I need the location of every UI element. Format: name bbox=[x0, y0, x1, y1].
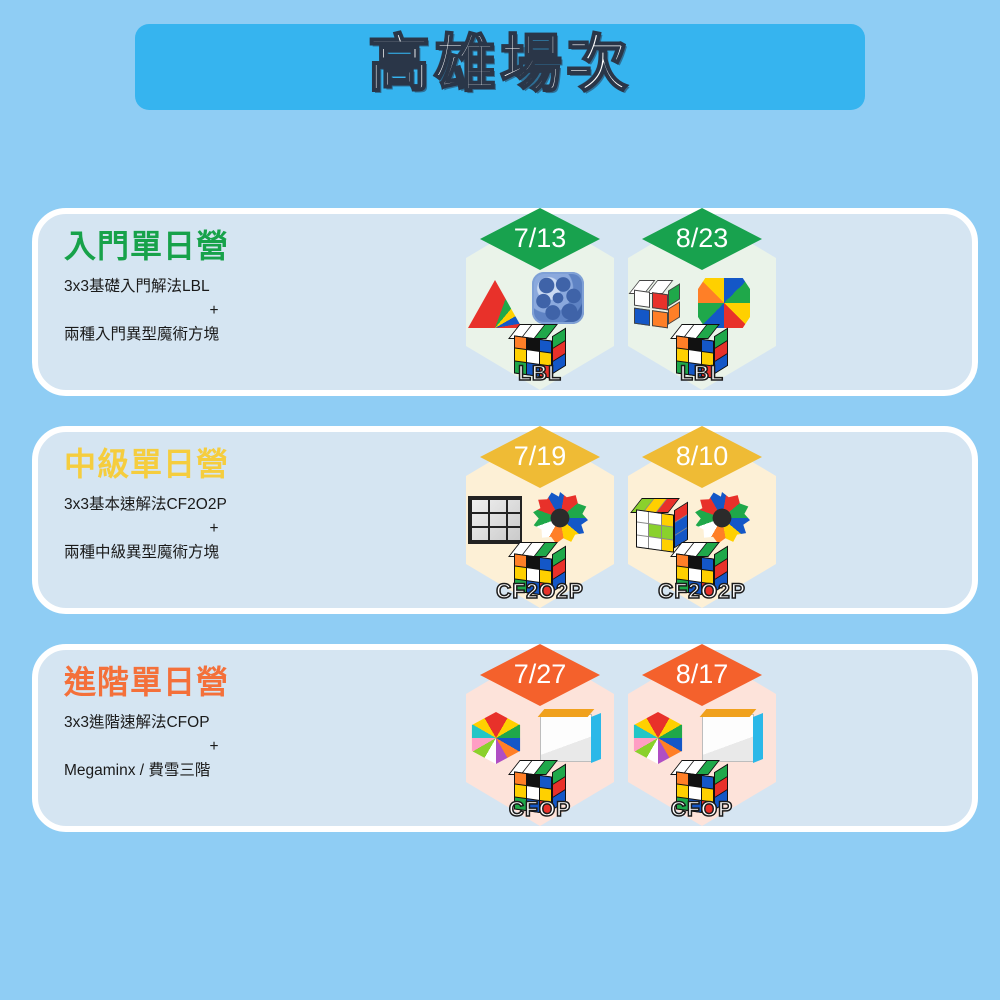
megaminx-icon bbox=[468, 712, 524, 764]
session-tile[interactable]: 8/10 C bbox=[628, 432, 776, 608]
course-desc-plus: + bbox=[64, 517, 364, 541]
session-method-label: CF2O2P bbox=[496, 580, 584, 604]
session-tile[interactable]: 7/19 CF2O2P bbox=[466, 432, 614, 608]
course-desc-line-2: 兩種入門異型魔術方塊 bbox=[64, 323, 458, 347]
skewb-icon bbox=[698, 278, 750, 328]
dodecahedron-icon bbox=[532, 272, 584, 324]
session-date: 8/23 bbox=[676, 225, 729, 252]
course-desc-line-1: 3x3進階速解法CFOP bbox=[64, 711, 458, 735]
course-desc-plus: + bbox=[64, 735, 364, 759]
session-method-label: CFOP bbox=[671, 798, 733, 822]
gear-cube-icon bbox=[532, 492, 588, 544]
fisher-cube-icon bbox=[540, 714, 592, 762]
course-card: 進階單日營 3x3進階速解法CFOP + Megaminx / 費雪三階 7/2… bbox=[32, 644, 978, 832]
page-title-banner: 高雄場次 bbox=[135, 24, 865, 110]
course-card: 中級單日營 3x3基本速解法CF2O2P + 兩種中級異型魔術方塊 7/19 bbox=[32, 426, 978, 614]
course-title: 中級單日營 bbox=[64, 446, 458, 483]
course-card: 入門單日營 3x3基礎入門解法LBL + 兩種入門異型魔術方塊 7/13 bbox=[32, 208, 978, 396]
course-title: 進階單日營 bbox=[64, 664, 458, 701]
session-list: 7/19 CF2O2P 8/10 bbox=[458, 432, 972, 608]
course-desc-line-1: 3x3基本速解法CF2O2P bbox=[64, 493, 458, 517]
session-tile[interactable]: 8/23 L bbox=[628, 214, 776, 390]
course-description: 3x3進階速解法CFOP + Megaminx / 費雪三階 bbox=[64, 711, 458, 783]
session-method-label: CFOP bbox=[509, 798, 571, 822]
megaminx-icon bbox=[630, 712, 686, 764]
2x2-cube-icon bbox=[632, 280, 682, 328]
course-info: 中級單日營 3x3基本速解法CF2O2P + 兩種中級異型魔術方塊 bbox=[38, 432, 458, 608]
course-description: 3x3基本速解法CF2O2P + 兩種中級異型魔術方塊 bbox=[64, 493, 458, 565]
session-date: 8/17 bbox=[676, 661, 729, 688]
fisher-cube-icon bbox=[702, 714, 754, 762]
course-desc-line-1: 3x3基礎入門解法LBL bbox=[64, 275, 458, 299]
session-date: 7/13 bbox=[514, 225, 567, 252]
course-info: 入門單日營 3x3基礎入門解法LBL + 兩種入門異型魔術方塊 bbox=[38, 214, 458, 390]
course-title: 入門單日營 bbox=[64, 228, 458, 265]
course-description: 3x3基礎入門解法LBL + 兩種入門異型魔術方塊 bbox=[64, 275, 458, 347]
session-list: 7/13 LBL 8/23 bbox=[458, 214, 972, 390]
session-method-label: LBL bbox=[680, 362, 724, 386]
session-date: 8/10 bbox=[676, 443, 729, 470]
pyraminx-icon bbox=[468, 280, 522, 328]
session-date: 7/27 bbox=[514, 661, 567, 688]
session-date: 7/19 bbox=[514, 443, 567, 470]
gear-cube-icon bbox=[694, 492, 750, 544]
session-tile[interactable]: 8/17 CFOP bbox=[628, 650, 776, 826]
course-info: 進階單日營 3x3進階速解法CFOP + Megaminx / 費雪三階 bbox=[38, 650, 458, 826]
course-desc-line-2: 兩種中級異型魔術方塊 bbox=[64, 541, 458, 565]
session-tile[interactable]: 7/13 LBL bbox=[466, 214, 614, 390]
session-tile[interactable]: 7/27 CFOP bbox=[466, 650, 614, 826]
page-title: 高雄場次 bbox=[368, 34, 632, 96]
course-desc-plus: + bbox=[64, 299, 364, 323]
mirror-cube-icon bbox=[468, 496, 522, 544]
session-method-label: LBL bbox=[518, 362, 562, 386]
session-method-label: CF2O2P bbox=[658, 580, 746, 604]
session-list: 7/27 CFOP 8/17 bbox=[458, 650, 972, 826]
course-desc-line-2: Megaminx / 費雪三階 bbox=[64, 759, 458, 783]
